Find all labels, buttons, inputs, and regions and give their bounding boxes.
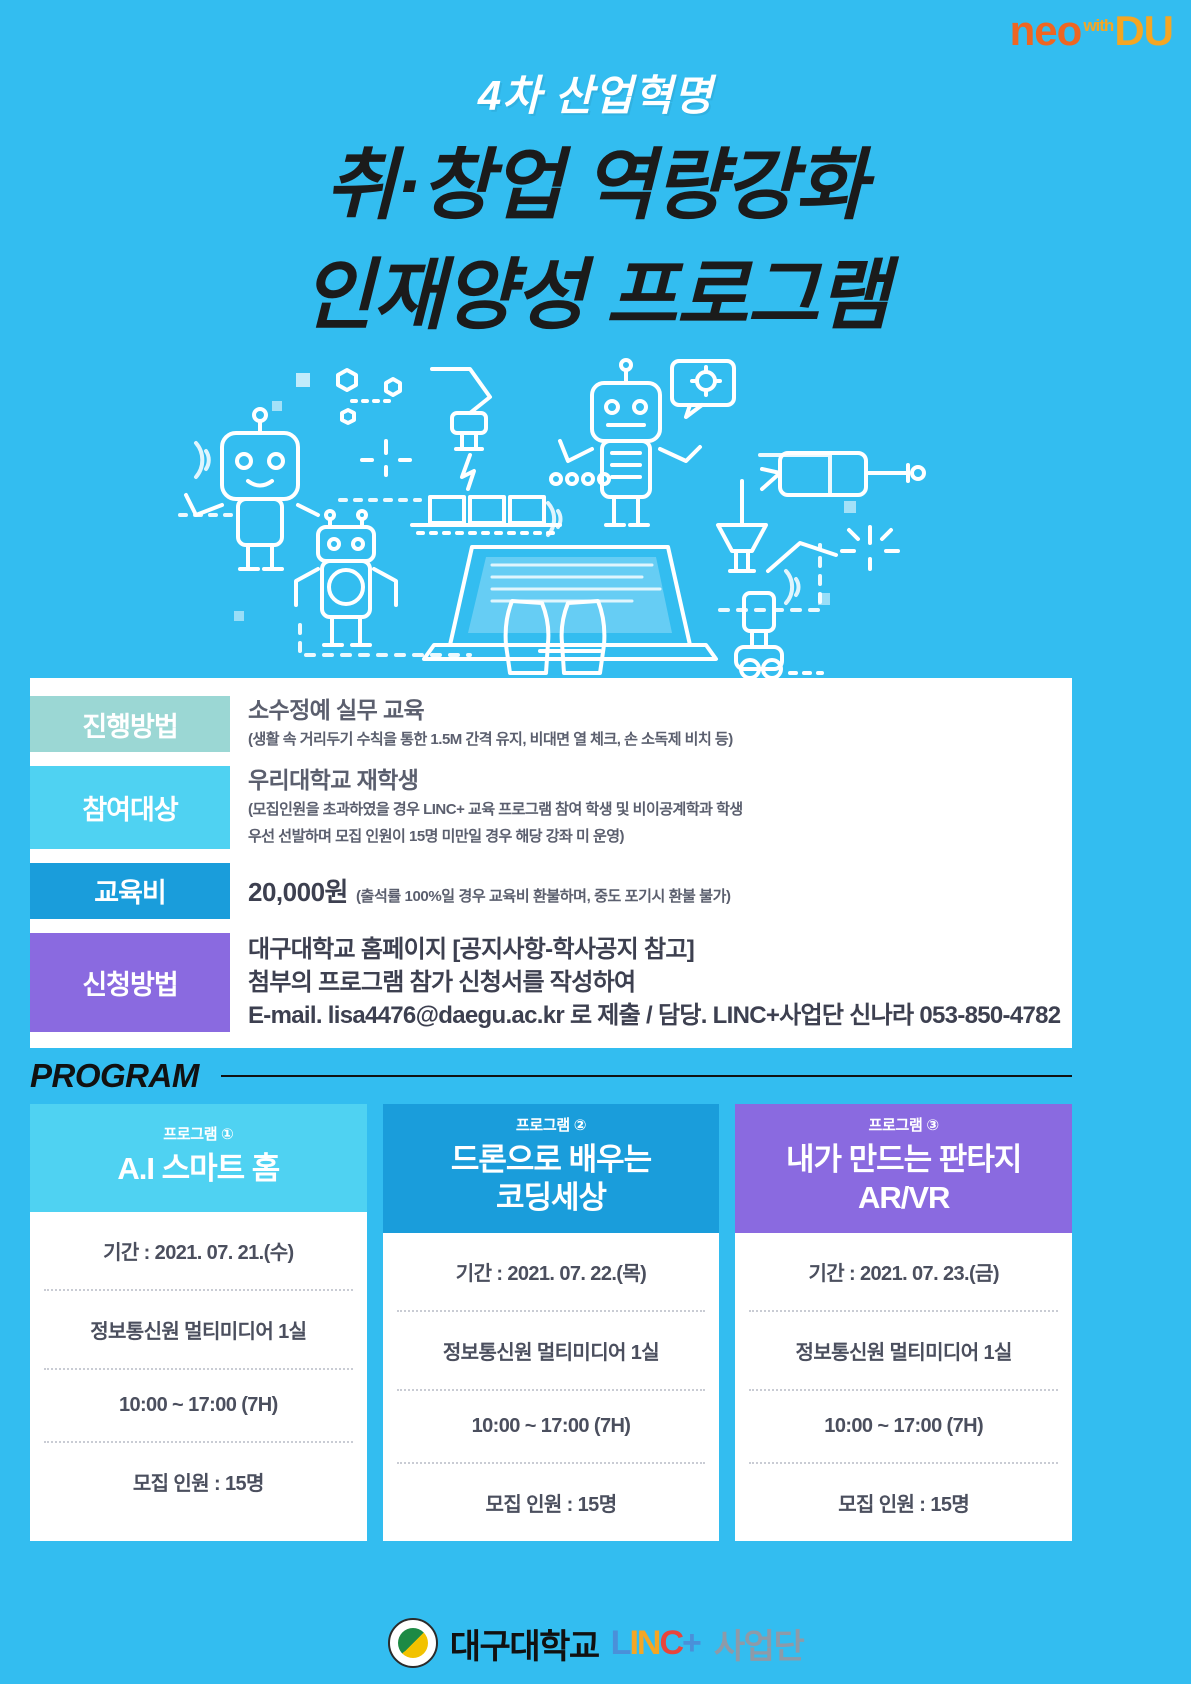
linc-letter-i: I (629, 1624, 636, 1663)
program-card-3[interactable]: 프로그램 ③ 내가 만드는 판타지 AR/VR 기간 : 2021. 07. 2… (735, 1104, 1072, 1541)
linc-letter-l: L (611, 1624, 630, 1663)
fee-note: (출석률 100%일 경우 교육비 환불하며, 중도 포기시 환불 불가) (356, 885, 731, 906)
seal-inner-emblem (398, 1628, 428, 1658)
program-card-2-time: 10:00 ~ 17:00 (7H) (397, 1391, 706, 1464)
info-body-apply: 대구대학교 홈페이지 [공지사항-학사공지 참고] 첨부의 프로그램 참가 신청… (230, 933, 1072, 1032)
program-card-3-head: 프로그램 ③ 내가 만드는 판타지 AR/VR (735, 1104, 1072, 1233)
program-card-2-title-line2: 코딩세상 (389, 1179, 714, 1217)
program-card-2-capacity: 모집 인원 : 15명 (397, 1464, 706, 1541)
brand-neo-text: neo (1010, 10, 1082, 52)
program-card-1-location: 정보통신원 멀티미디어 1실 (44, 1291, 353, 1370)
fee-line: 20,000원 (출석률 100%일 경우 교육비 환불하며, 중도 포기시 환… (248, 872, 1072, 909)
program-heading-rule (221, 1075, 1072, 1077)
info-label-fee: 교육비 (30, 863, 230, 919)
info-body-fee: 20,000원 (출석률 100%일 경우 교육비 환불하며, 중도 포기시 환… (230, 863, 1072, 919)
program-card-3-title: 내가 만드는 판타지 AR/VR (741, 1141, 1066, 1217)
brand-du-text: DU (1114, 10, 1173, 52)
info-panel: 진행방법 소수정예 실무 교육 (생활 속 거리두기 수칙을 통한 1.5M 간… (30, 678, 1072, 1048)
info-head-method: 소수정예 실무 교육 (248, 696, 1072, 725)
program-card-1-tag: 프로그램 ① (36, 1123, 361, 1144)
footer-university-name: 대구대학교 (450, 1619, 599, 1668)
linc-letter-c: C (659, 1624, 682, 1663)
info-label-target: 참여대상 (30, 766, 230, 849)
program-heading: PROGRAM (30, 1057, 199, 1095)
program-card-3-time: 10:00 ~ 17:00 (7H) (749, 1391, 1058, 1464)
program-card-1-capacity: 모집 인원 : 15명 (44, 1443, 353, 1520)
program-card-3-period: 기간 : 2021. 07. 23.(금) (749, 1233, 1058, 1312)
info-body-target: 우리대학교 재학생 (모집인원을 초과하였을 경우 LINC+ 교육 프로그램 … (230, 766, 1072, 849)
info-sub-target-line1: (모집인원을 초과하였을 경우 LINC+ 교육 프로그램 참여 학생 및 비이… (248, 798, 1072, 822)
program-card-1-head: 프로그램 ① A.I 스마트 홈 (30, 1104, 367, 1212)
apply-line-2: 첨부의 프로그램 참가 신청서를 작성하여 (248, 966, 1072, 999)
linc-plus-sign: + (682, 1624, 700, 1663)
fee-amount: 20,000원 (248, 872, 348, 909)
program-card-1-time: 10:00 ~ 17:00 (7H) (44, 1370, 353, 1443)
program-card-3-rows: 기간 : 2021. 07. 23.(금) 정보통신원 멀티미디어 1실 10:… (735, 1233, 1072, 1541)
linc-letter-n: N (637, 1624, 660, 1663)
program-card-2-tag: 프로그램 ② (389, 1114, 714, 1135)
info-row-fee: 교육비 20,000원 (출석률 100%일 경우 교육비 환불하며, 중도 포… (30, 863, 1072, 919)
info-row-method: 진행방법 소수정예 실무 교육 (생활 속 거리두기 수칙을 통한 1.5M 간… (30, 696, 1072, 752)
title-line-1: 취·창업 역량강화 (0, 145, 1191, 227)
program-cards: 프로그램 ① A.I 스마트 홈 기간 : 2021. 07. 21.(수) 정… (30, 1104, 1072, 1541)
program-card-2-location: 정보통신원 멀티미디어 1실 (397, 1312, 706, 1391)
brand-with-text: with (1083, 17, 1113, 34)
apply-line-1: 대구대학교 홈페이지 [공지사항-학사공지 참고] (248, 933, 1072, 966)
program-card-3-location: 정보통신원 멀티미디어 1실 (749, 1312, 1058, 1391)
program-card-2-head: 프로그램 ② 드론으로 배우는 코딩세상 (383, 1104, 720, 1233)
program-card-1[interactable]: 프로그램 ① A.I 스마트 홈 기간 : 2021. 07. 21.(수) 정… (30, 1104, 367, 1541)
info-label-method: 진행방법 (30, 696, 230, 752)
program-section-header: PROGRAM (30, 1057, 1072, 1095)
program-card-1-period: 기간 : 2021. 07. 21.(수) (44, 1212, 353, 1291)
neo-with-du-logo: neo with DU (1010, 10, 1173, 52)
info-label-apply: 신청방법 (30, 933, 230, 1032)
info-row-apply: 신청방법 대구대학교 홈페이지 [공지사항-학사공지 참고] 첨부의 프로그램 … (30, 933, 1072, 1032)
info-head-target: 우리대학교 재학생 (248, 766, 1072, 795)
poster-title-block: 4차 산업혁명 취·창업 역량강화 인재양성 프로그램 (0, 62, 1191, 337)
program-card-2-title-line1: 드론으로 배우는 (389, 1141, 714, 1179)
program-card-3-title-line2: AR/VR (741, 1179, 1066, 1217)
program-card-3-tag: 프로그램 ③ (741, 1114, 1066, 1135)
footer-team-name: 사업단 (714, 1619, 803, 1668)
info-body-method: 소수정예 실무 교육 (생활 속 거리두기 수칙을 통한 1.5M 간격 유지,… (230, 696, 1072, 752)
title-line-2: 인재양성 프로그램 (0, 255, 1191, 337)
linc-plus-logo: L I N C + (611, 1624, 700, 1663)
footer-logos: 대구대학교 L I N C + 사업단 (0, 1618, 1191, 1668)
program-card-2-title: 드론으로 배우는 코딩세상 (389, 1141, 714, 1217)
info-sub-method: (생활 속 거리두기 수칙을 통한 1.5M 간격 유지, 비대면 열 체크, … (248, 728, 1072, 752)
title-kicker: 4차 산업혁명 (0, 62, 1191, 123)
program-card-3-capacity: 모집 인원 : 15명 (749, 1464, 1058, 1541)
program-card-2[interactable]: 프로그램 ② 드론으로 배우는 코딩세상 기간 : 2021. 07. 22.(… (383, 1104, 720, 1541)
info-sub-target-line2: 우선 선발하며 모집 인원이 15명 미만일 경우 해당 강좌 미 운영) (248, 825, 1072, 849)
program-card-3-title-line1: 내가 만드는 판타지 (741, 1141, 1066, 1179)
apply-line-3: E-mail. lisa4476@daegu.ac.kr 로 제출 / 담당. … (248, 999, 1072, 1032)
program-card-1-rows: 기간 : 2021. 07. 21.(수) 정보통신원 멀티미디어 1실 10:… (30, 1212, 367, 1541)
program-card-1-title: A.I 스마트 홈 (36, 1150, 361, 1188)
program-card-2-rows: 기간 : 2021. 07. 22.(목) 정보통신원 멀티미디어 1실 10:… (383, 1233, 720, 1541)
daegu-university-seal-icon (388, 1618, 438, 1668)
program-card-2-period: 기간 : 2021. 07. 22.(목) (397, 1233, 706, 1312)
info-row-target: 참여대상 우리대학교 재학생 (모집인원을 초과하였을 경우 LINC+ 교육 … (30, 766, 1072, 849)
robotics-illustration (0, 355, 1191, 680)
